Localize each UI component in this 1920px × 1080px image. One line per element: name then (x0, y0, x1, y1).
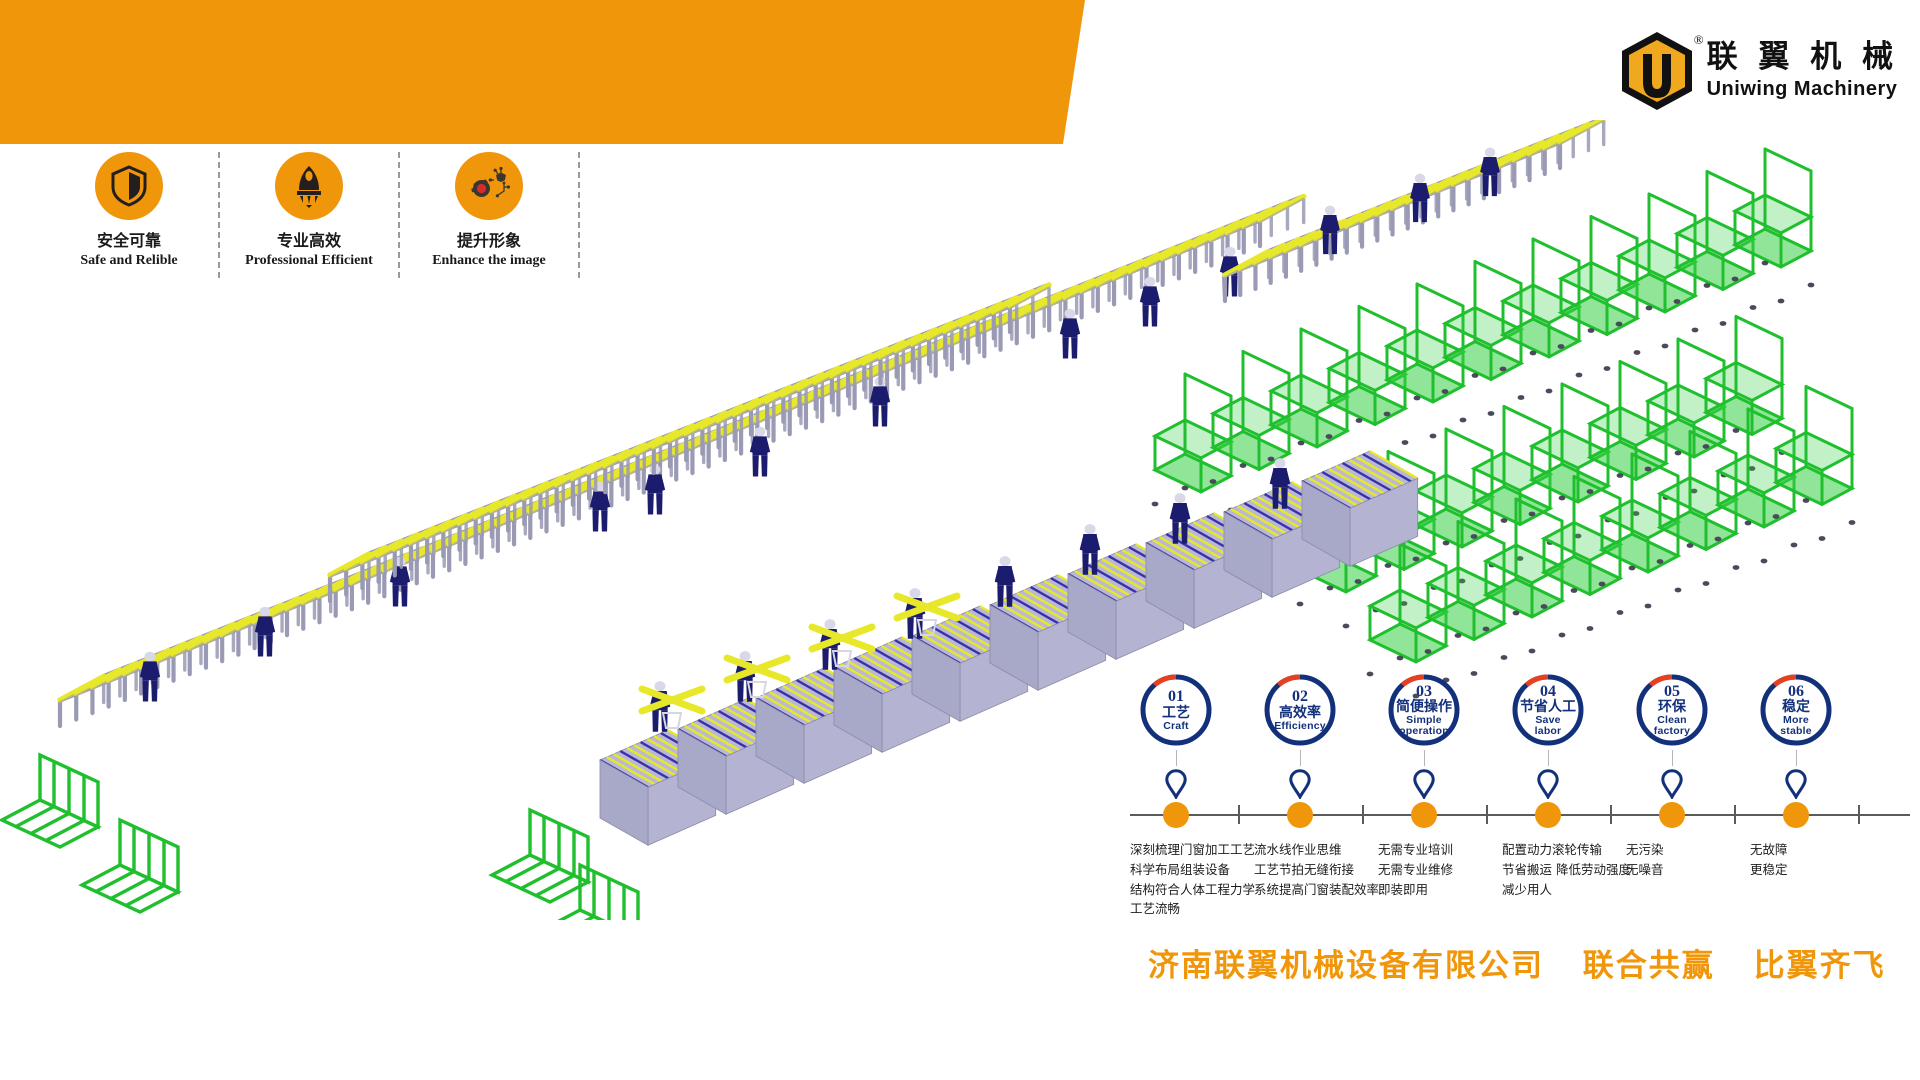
timeline-dot (1659, 802, 1685, 828)
green-trolley-cart (1703, 317, 1786, 471)
badge-stem (1176, 750, 1177, 766)
feature-label-en: Professional Efficient (245, 252, 373, 271)
badge-number: 06 (1788, 683, 1804, 700)
badge-stem (1300, 750, 1301, 766)
feature-label-en: Enhance the image (432, 252, 546, 271)
badge-label-en: Savelabor (1535, 715, 1562, 737)
timeline-tick (1486, 805, 1488, 824)
feature-icon-badge (95, 152, 163, 220)
timeline-dot (1535, 802, 1561, 828)
feature-icon-badge (275, 152, 343, 220)
worker-figure (1060, 309, 1080, 359)
footer-slogan-1: 联合共赢 (1583, 948, 1715, 984)
registered-trademark-icon: ® (1694, 32, 1704, 48)
green-material-rack (82, 820, 178, 912)
badge-stem (1796, 750, 1797, 766)
benefit-description-03: 无需专业培训无需专业维修即装即用 (1378, 840, 1453, 899)
badge-label-cn: 稳定 (1782, 700, 1810, 715)
feature-item-image: 提升形象 Enhance the image (400, 152, 580, 278)
badge-label-cn: 工艺 (1162, 706, 1190, 721)
feature-strip: 安全可靠 Safe and Relible 专业高效 Professional … (40, 152, 580, 278)
feature-label-en: Safe and Relible (80, 252, 177, 271)
map-pin-icon (1661, 769, 1683, 799)
company-logo: ® 联 翼 机 械 Uniwing Machinery (1619, 30, 1898, 112)
badge-label-en: Craft (1163, 721, 1189, 732)
badge-number: 03 (1416, 683, 1432, 700)
rocket-icon (289, 164, 329, 208)
badge-number: 05 (1664, 683, 1680, 700)
badge-content: 02高效率Efficiency (1262, 672, 1338, 748)
timeline-tick (1238, 805, 1240, 824)
logo-name-cn: 联 翼 机 械 (1707, 41, 1898, 74)
benefit-badge-05[interactable]: 05环保Cleanfactory (1634, 672, 1710, 748)
badge-label-cn: 环保 (1658, 700, 1686, 715)
map-pin-icon (1413, 769, 1435, 799)
timeline-tick (1734, 805, 1736, 824)
feature-item-efficient: 专业高效 Professional Efficient (220, 152, 400, 278)
benefit-badge-row: 01工艺Craft02高效率Efficiency03简便操作Simpleoper… (1130, 672, 1910, 777)
hexagon-u-logo-icon: ® (1619, 30, 1695, 112)
feature-item-safe: 安全可靠 Safe and Relible (40, 152, 220, 278)
gear-network-icon (468, 165, 510, 207)
benefit-description-05: 无污染无噪音 (1626, 840, 1664, 880)
green-material-rack (492, 810, 588, 902)
badge-number: 01 (1168, 688, 1184, 705)
badge-stem (1424, 750, 1425, 766)
badge-label-cn: 节省人工 (1520, 700, 1576, 715)
shield-icon (109, 165, 149, 207)
map-pin-icon (1165, 769, 1187, 799)
map-pin-icon (1785, 769, 1807, 799)
badge-label-en: Cleanfactory (1654, 715, 1690, 737)
benefit-description-02: 流水线作业思维工艺节拍无缝衔接系统提高门窗装配效率 (1254, 840, 1379, 899)
benefit-badge-06[interactable]: 06稳定Morestable (1758, 672, 1834, 748)
benefit-badge-04[interactable]: 04节省人工Savelabor (1510, 672, 1586, 748)
badge-content: 03简便操作Simpleoperation (1386, 672, 1462, 748)
feature-label-cn: 安全可靠 (97, 230, 161, 252)
badge-content: 01工艺Craft (1138, 672, 1214, 748)
green-trolley-cart (1732, 149, 1815, 303)
benefit-badge-02[interactable]: 02高效率Efficiency (1262, 672, 1338, 748)
badge-label-cn: 高效率 (1279, 706, 1321, 721)
benefit-badge-01[interactable]: 01工艺Craft (1138, 672, 1214, 748)
timeline-tick (1610, 805, 1612, 824)
benefit-description-01: 深刻梳理门窗加工工艺科学布局组装设备结构符合人体工程力学工艺流畅 (1130, 840, 1255, 919)
timeline-tick (1362, 805, 1364, 824)
timeline-dot (1783, 802, 1809, 828)
green-material-rack (2, 755, 98, 847)
badge-content: 05环保Cleanfactory (1634, 672, 1710, 748)
badge-label-cn: 简便操作 (1396, 700, 1452, 715)
timeline-tick (1858, 805, 1860, 824)
badge-content: 04节省人工Savelabor (1510, 672, 1586, 748)
benefit-description-04: 配置动力滚轮传输节省搬运 降低劳动强度减少用人 (1502, 840, 1631, 899)
header-banner (0, 0, 1100, 144)
map-pin-icon (1289, 769, 1311, 799)
logo-name-en: Uniwing Machinery (1707, 78, 1898, 101)
worker-figure (1480, 148, 1500, 197)
timeline-dot (1163, 802, 1189, 828)
feature-label-cn: 专业高效 (277, 230, 341, 252)
footer-company-line: 济南联翼机械设备有限公司 联合共赢 比翼齐飞 (1148, 940, 1912, 985)
badge-number: 02 (1292, 688, 1308, 705)
timeline-dot (1411, 802, 1437, 828)
benefits-timeline: 01工艺Craft02高效率Efficiency03简便操作Simpleoper… (1130, 672, 1910, 912)
badge-label-en: Morestable (1780, 715, 1812, 737)
feature-label-cn: 提升形象 (457, 230, 521, 252)
feature-icon-badge (455, 152, 523, 220)
benefit-description-06: 无故障更稳定 (1750, 840, 1788, 880)
green-material-rack (542, 865, 638, 920)
badge-number: 04 (1540, 683, 1556, 700)
timeline-dot (1287, 802, 1313, 828)
badge-label-en: Efficiency (1274, 721, 1326, 732)
map-pin-icon (1537, 769, 1559, 799)
badge-stem (1548, 750, 1549, 766)
footer-slogan-2: 比翼齐飞 (1754, 948, 1886, 984)
green-trolley-cart (1773, 387, 1856, 541)
badge-label-en: Simpleoperation (1399, 715, 1449, 737)
footer-company-name: 济南联翼机械设备有限公司 (1148, 948, 1544, 984)
benefit-badge-03[interactable]: 03简便操作Simpleoperation (1386, 672, 1462, 748)
badge-stem (1672, 750, 1673, 766)
badge-content: 06稳定Morestable (1758, 672, 1834, 748)
